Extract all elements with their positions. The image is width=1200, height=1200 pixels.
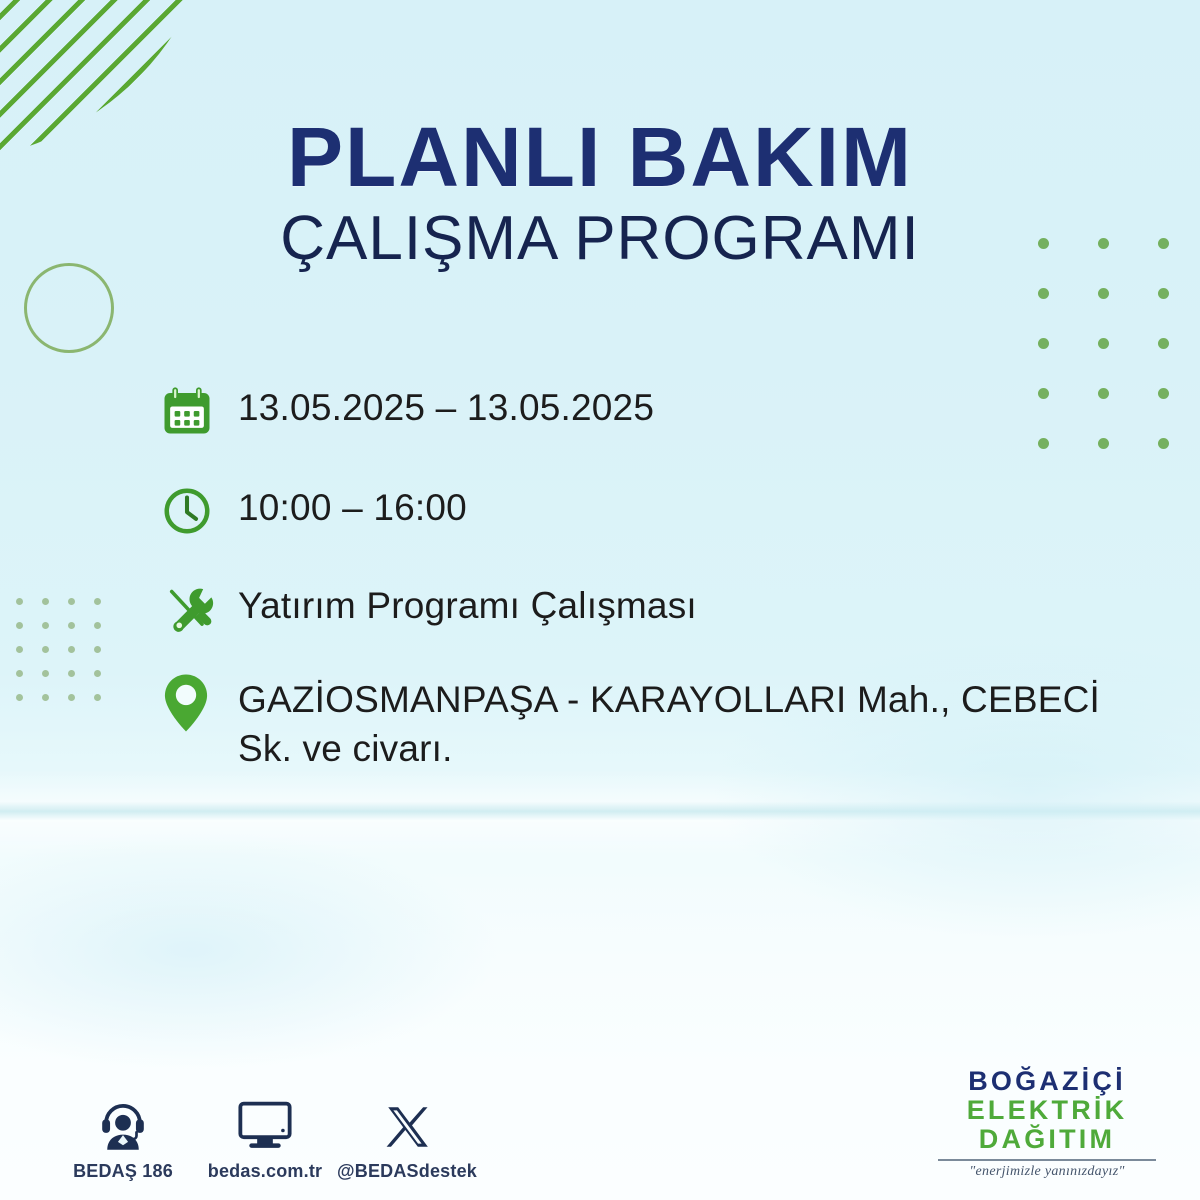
contact-website-label: bedas.com.tr bbox=[208, 1161, 322, 1182]
tools-icon bbox=[160, 576, 238, 640]
page-title: PLANLI BAKIM bbox=[0, 118, 1200, 198]
brand-line-2: ELEKTRİK bbox=[932, 1096, 1162, 1125]
brand-logo: BOĞAZİÇİ ELEKTRİK DAĞITIM "enerjimizle y… bbox=[932, 1067, 1162, 1180]
maintenance-info-list: 13.05.2025 – 13.05.2025 10:00 – 16:00 bbox=[160, 378, 1160, 800]
info-work-text: Yatırım Programı Çalışması bbox=[238, 576, 697, 631]
calendar-icon bbox=[160, 378, 238, 442]
contact-x-label: @BEDASdestek bbox=[337, 1161, 477, 1182]
poster-header: PLANLI BAKIM ÇALIŞMA PROGRAMI bbox=[0, 118, 1200, 275]
info-date-text: 13.05.2025 – 13.05.2025 bbox=[238, 378, 654, 433]
info-row-date: 13.05.2025 – 13.05.2025 bbox=[160, 378, 1160, 442]
page-subtitle: ÇALIŞMA PROGRAMI bbox=[0, 198, 1200, 275]
info-row-location: GAZİOSMANPAŞA - KARAYOLLARI Mah., CEBECİ… bbox=[160, 670, 1160, 774]
contact-website[interactable]: bedas.com.tr bbox=[194, 1094, 336, 1182]
contact-x-social[interactable]: @BEDASdestek bbox=[336, 1094, 478, 1182]
brand-line-3: DAĞITIM bbox=[932, 1125, 1162, 1154]
planned-maintenance-poster: PLANLI BAKIM ÇALIŞMA PROGRAMI bbox=[0, 0, 1200, 1200]
glow-left bbox=[0, 830, 500, 1070]
contact-phone[interactable]: BEDAŞ 186 bbox=[52, 1094, 194, 1182]
circle-outline-decoration bbox=[24, 263, 114, 353]
map-pin-icon bbox=[160, 670, 238, 734]
monitor-icon bbox=[237, 1094, 293, 1152]
dot-grid-left-decoration bbox=[16, 598, 120, 718]
info-time-text: 10:00 – 16:00 bbox=[238, 478, 467, 533]
clock-icon bbox=[160, 478, 238, 542]
footer-contacts: BEDAŞ 186 bedas.com.tr @BEDASdestek bbox=[52, 1094, 478, 1182]
contact-phone-label: BEDAŞ 186 bbox=[73, 1161, 173, 1182]
support-headset-icon bbox=[96, 1094, 150, 1152]
brand-line-1: BOĞAZİÇİ bbox=[932, 1067, 1162, 1096]
info-row-time: 10:00 – 16:00 bbox=[160, 478, 1160, 542]
x-social-icon bbox=[382, 1094, 432, 1152]
brand-tagline: "enerjimizle yanınızdayız" bbox=[932, 1164, 1162, 1180]
info-location-text: GAZİOSMANPAŞA - KARAYOLLARI Mah., CEBECİ… bbox=[238, 670, 1138, 774]
info-row-work-type: Yatırım Programı Çalışması bbox=[160, 576, 1160, 640]
brand-divider bbox=[938, 1159, 1156, 1161]
